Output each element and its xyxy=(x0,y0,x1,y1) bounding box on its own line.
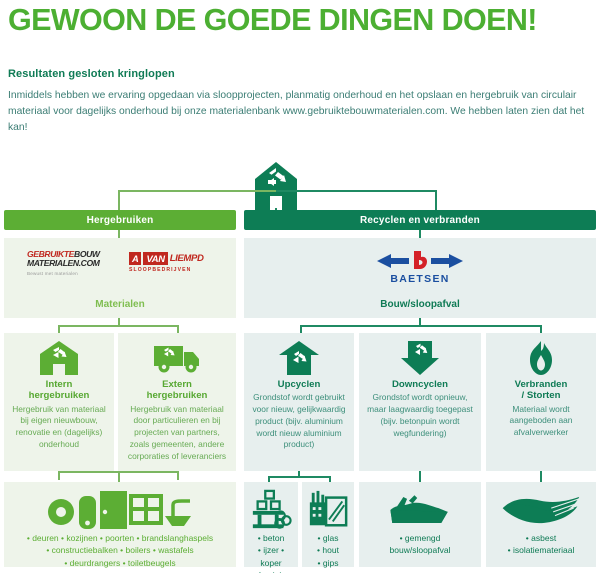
card-title-line: Verbranden xyxy=(515,379,568,390)
a-van-liempd-logo[interactable]: A VAN LIEMPD SLOOPBEDRIJVEN xyxy=(129,252,213,273)
infographic-page: GEWOON DE GOEDE DINGEN DOEN! Resultaten … xyxy=(0,0,600,573)
asbestos-sheet-icon xyxy=(490,488,592,532)
card-title: Extern hergebruiken xyxy=(125,379,229,402)
connector-root-right xyxy=(276,190,436,192)
card-title-line: Extern xyxy=(162,379,192,390)
flame-icon xyxy=(493,341,589,375)
connector-root-left xyxy=(118,190,276,192)
material-list: • beton • ijzer • koper • aluminium xyxy=(248,532,294,573)
connector-downcycle-drop xyxy=(419,471,421,482)
card-body: Grondstof wordt gebruikt voor nieuw, gel… xyxy=(251,392,347,451)
branch-bar-recyclen[interactable]: Recyclen en verbranden xyxy=(244,210,596,230)
partner-logos-recycle: BAETSEN xyxy=(244,238,596,285)
connector-split-right xyxy=(300,325,541,327)
material-card-downcycle[interactable]: • glas • hout • gips xyxy=(302,482,354,567)
card-title-line: / Storten xyxy=(522,390,561,401)
material-list-line: • gemengd xyxy=(363,532,477,544)
card-title: Downcyclen xyxy=(366,379,474,390)
card-title: Verbranden / Storten xyxy=(493,379,589,402)
material-list-line: • gips xyxy=(306,557,350,569)
card-upcyclen[interactable]: Upcyclen Grondstof wordt gebruikt voor n… xyxy=(244,333,354,471)
truck-recycle-icon xyxy=(125,341,229,375)
connector-left-drop xyxy=(118,190,120,210)
glass-wood-icon xyxy=(306,488,350,532)
house-recycle-icon xyxy=(255,162,297,210)
branch-bar-label: Recyclen en verbranden xyxy=(360,215,480,226)
material-list-line: • deuren • kozijnen • poorten • brandsla… xyxy=(8,532,232,544)
material-list-line: bouw/sloopafval xyxy=(363,544,477,556)
card-title-line: Intern xyxy=(46,379,73,390)
connector-right-drop xyxy=(435,190,437,210)
material-list-line: • aluminium xyxy=(248,569,294,573)
section-subtitle: Resultaten gesloten kringlopen xyxy=(8,68,175,80)
material-card-gemengd[interactable]: • gemengd bouw/sloopafval xyxy=(359,482,481,567)
connector-split-left xyxy=(58,325,178,327)
card-body: Hergebruik van materiaal door particulie… xyxy=(125,404,229,463)
rubble-pile-icon xyxy=(363,488,477,532)
partner-panel-label-recycle: Bouw/sloopafval xyxy=(244,299,596,310)
partner-panel-label-reuse: Materialen xyxy=(4,299,236,310)
avl-liempd: LIEMPD xyxy=(170,252,204,265)
card-downcyclen[interactable]: Downcyclen Grondstof wordt opnieuw, maar… xyxy=(359,333,481,471)
material-list-line: • beton xyxy=(248,532,294,544)
material-list: • glas • hout • gips xyxy=(306,532,350,569)
baetsen-logo[interactable]: BAETSEN xyxy=(372,250,468,285)
material-list-line: • isolatiemateriaal xyxy=(490,544,592,556)
material-list-line: • hout xyxy=(306,544,350,556)
material-list-line: • glas xyxy=(306,532,350,544)
connector-bar-to-panel-right xyxy=(419,230,421,238)
partner-logos-reuse: GEBRUIKTEBOUW MATERIALEN.COM Bewust met … xyxy=(4,238,236,276)
card-title-line: hergebruiken xyxy=(29,390,90,401)
gbm-tagline: Bewust met materialen xyxy=(27,271,115,276)
arrow-down-recycle-icon xyxy=(366,341,474,375)
avl-a: A xyxy=(129,252,141,265)
card-body: Hergebruik van materiaal bij eigen nieuw… xyxy=(11,404,107,451)
material-list-line: • asbest xyxy=(490,532,592,544)
partner-panel-recycle: BAETSEN Bouw/sloopafval xyxy=(244,238,596,318)
house-recycle-up-icon xyxy=(251,341,347,375)
avl-van: VAN xyxy=(143,252,167,265)
material-card-hergebruik[interactable]: • deuren • kozijnen • poorten • brandsla… xyxy=(4,482,236,567)
baetsen-mark-icon xyxy=(372,250,468,272)
connector-merge-left-drop xyxy=(118,471,120,482)
card-body: Materiaal wordt aangeboden aan afvalverw… xyxy=(493,404,589,439)
material-list-line: • deurdrangers • toiletbeugels xyxy=(8,557,232,569)
house-recycle-icon xyxy=(11,341,107,375)
connector-verbranden-drop xyxy=(540,471,542,482)
branch-bar-label: Hergebruiken xyxy=(87,215,154,226)
card-verbranden-storten[interactable]: Verbranden / Storten Materiaal wordt aan… xyxy=(486,333,596,471)
intro-paragraph: Inmiddels hebben we ervaring opgedaan vi… xyxy=(8,88,586,136)
gbm-line2: MATERIALEN.COM xyxy=(27,258,100,268)
material-list: • asbest • isolatiemateriaal xyxy=(490,532,592,557)
gebruiktebouwmaterialen-logo[interactable]: GEBRUIKTEBOUW MATERIALEN.COM Bewust met … xyxy=(27,250,115,276)
page-title: GEWOON DE GOEDE DINGEN DOEN! xyxy=(8,4,594,36)
building-products-icon xyxy=(8,488,232,532)
card-title-line: hergebruiken xyxy=(147,390,208,401)
material-list: • gemengd bouw/sloopafval xyxy=(363,532,477,557)
material-list: • deuren • kozijnen • poorten • brandsla… xyxy=(8,532,232,569)
card-intern-hergebruiken[interactable]: Intern hergebruiken Hergebruik van mater… xyxy=(4,333,114,471)
material-card-upcycle[interactable]: • beton • ijzer • koper • aluminium xyxy=(244,482,298,567)
connector-bar-to-panel-left xyxy=(118,230,120,238)
baetsen-wordmark: BAETSEN xyxy=(372,273,468,285)
material-list-line: • ijzer • koper xyxy=(248,544,294,569)
branch-bar-hergebruiken[interactable]: Hergebruiken xyxy=(4,210,236,230)
avl-subtitle: SLOOPBEDRIJVEN xyxy=(129,267,213,273)
card-extern-hergebruiken[interactable]: Extern hergebruiken Hergebruik van mater… xyxy=(118,333,236,471)
connector-upcycle-split xyxy=(268,476,330,478)
material-list-line: • constructiebalken • boilers • wastafel… xyxy=(8,544,232,556)
material-card-asbest[interactable]: • asbest • isolatiemateriaal xyxy=(486,482,596,567)
card-body: Grondstof wordt opnieuw, maar laagwaardi… xyxy=(366,392,474,439)
card-title: Intern hergebruiken xyxy=(11,379,107,402)
flow-diagram: Hergebruiken Recyclen en verbranden GEBR… xyxy=(0,160,600,573)
card-title: Upcyclen xyxy=(251,379,347,390)
partner-panel-reuse: GEBRUIKTEBOUW MATERIALEN.COM Bewust met … xyxy=(4,238,236,318)
pallet-pipes-icon xyxy=(248,488,294,532)
